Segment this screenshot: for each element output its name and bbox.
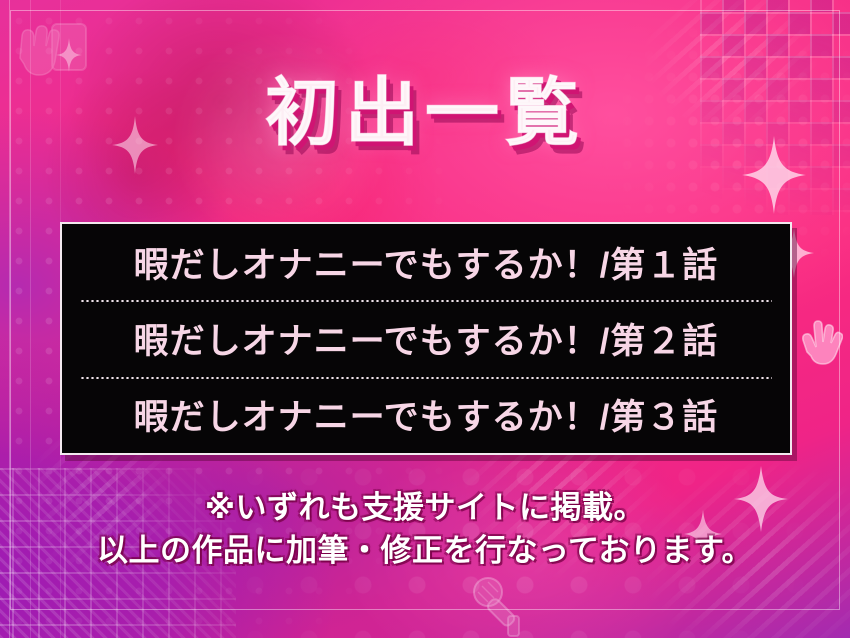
episode-list-panel: 暇だしオナニーでもするか！/第１話 暇だしオナニーでもするか！/第２話 暇だしオ… [60,222,792,455]
promo-banner: 初出一覧 暇だしオナニーでもするか！/第１話 暇だしオナニーでもするか！/第２話… [0,0,850,638]
list-item[interactable]: 暇だしオナニーでもするか！/第３話 [62,377,790,453]
footer-note-line-2: 以上の作品に加筆・修正を行なっております。 [0,530,850,573]
list-item[interactable]: 暇だしオナニーでもするか！/第２話 [62,300,790,376]
footer-note: ※いずれも支援サイトに掲載。 以上の作品に加筆・修正を行なっております。 [0,487,850,573]
list-item[interactable]: 暇だしオナニーでもするか！/第１話 [62,224,790,300]
footer-note-line-1: ※いずれも支援サイトに掲載。 [0,487,850,530]
page-title: 初出一覧 [0,76,850,150]
